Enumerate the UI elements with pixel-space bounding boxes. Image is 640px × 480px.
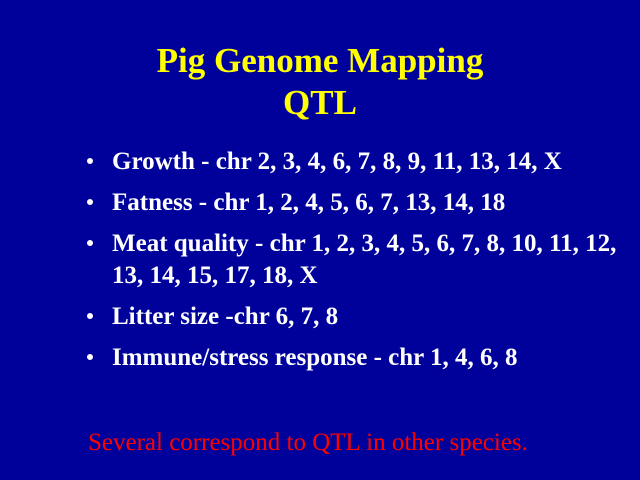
list-item: Growth - chr 2, 3, 4, 6, 7, 8, 9, 11, 13… <box>84 146 636 178</box>
list-item: Meat quality - chr 1, 2, 3, 4, 5, 6, 7, … <box>84 228 636 292</box>
list-item-label: Fatness - chr 1, 2, 4, 5, 6, 7, 13, 14, … <box>112 187 636 219</box>
list-item-label: Litter size -chr 6, 7, 8 <box>112 301 636 333</box>
list-item: Immune/stress response - chr 1, 4, 6, 8 <box>84 342 636 374</box>
list-item-label: Immune/stress response - chr 1, 4, 6, 8 <box>112 342 636 374</box>
footer-note: Several correspond to QTL in other speci… <box>88 428 640 458</box>
bullet-list: Growth - chr 2, 3, 4, 6, 7, 8, 9, 11, 13… <box>84 146 636 383</box>
bullet-dot-icon <box>87 240 93 246</box>
slide-title: Pig Genome Mapping QTL <box>0 40 640 124</box>
list-item: Fatness - chr 1, 2, 4, 5, 6, 7, 13, 14, … <box>84 187 636 219</box>
slide-title-line-2: QTL <box>0 82 640 124</box>
bullet-dot-icon <box>87 158 93 164</box>
list-item: Litter size -chr 6, 7, 8 <box>84 301 636 333</box>
bullet-dot-icon <box>87 313 93 319</box>
presentation-slide: Pig Genome Mapping QTL Growth - chr 2, 3… <box>0 0 640 480</box>
bullet-dot-icon <box>87 199 93 205</box>
list-item-label: Growth - chr 2, 3, 4, 6, 7, 8, 9, 11, 13… <box>112 146 636 178</box>
bullet-dot-icon <box>87 354 93 360</box>
list-item-label: Meat quality - chr 1, 2, 3, 4, 5, 6, 7, … <box>112 228 636 292</box>
slide-title-line-1: Pig Genome Mapping <box>0 40 640 82</box>
